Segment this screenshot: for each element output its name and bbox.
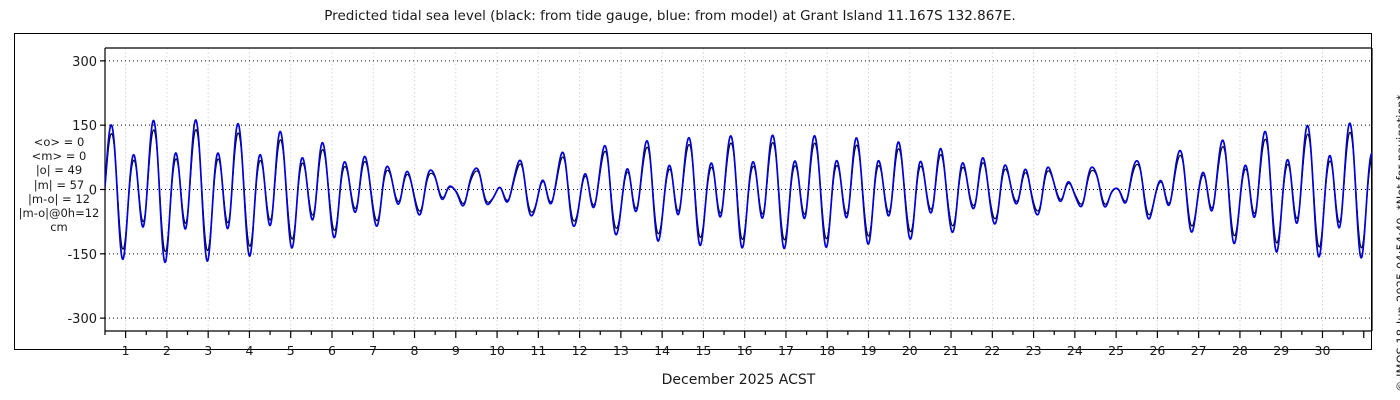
y-tick-label: -150 (67, 248, 97, 263)
x-tick-label: 29 (1273, 343, 1289, 358)
data-series-group (105, 120, 1372, 262)
x-tick-label: 6 (328, 343, 336, 358)
x-tick-label: 16 (737, 343, 753, 358)
x-tick-label: 10 (489, 343, 505, 358)
y-tick-label: 0 (89, 184, 97, 199)
plot-area: 3001500-150-300 123456789101112131415161… (0, 0, 1400, 400)
x-tick-label: 27 (1191, 343, 1207, 358)
x-tick-label: 12 (572, 343, 588, 358)
x-axis-ticks: 1234567891011121314151617181920212223242… (105, 331, 1364, 358)
x-tick-label: 20 (902, 343, 918, 358)
x-tick-label: 28 (1232, 343, 1248, 358)
y-axis-ticks: 3001500-150-300 (67, 55, 105, 327)
x-tick-label: 30 (1315, 343, 1331, 358)
x-tick-label: 9 (452, 343, 460, 358)
x-tick-label: 15 (695, 343, 711, 358)
x-tick-label: 8 (411, 343, 419, 358)
x-tick-label: 24 (1067, 343, 1083, 358)
x-tick-label: 11 (530, 343, 546, 358)
x-tick-label: 14 (654, 343, 670, 358)
y-tick-label: -300 (67, 312, 97, 327)
x-tick-label: 23 (1026, 343, 1042, 358)
x-tick-label: 26 (1149, 343, 1165, 358)
horizontal-gridlines (105, 61, 1372, 318)
x-tick-label: 25 (1108, 343, 1124, 358)
series-line-model (105, 120, 1372, 262)
x-tick-label: 22 (984, 343, 1000, 358)
x-tick-label: 1 (122, 343, 130, 358)
x-tick-label: 19 (861, 343, 877, 358)
x-tick-label: 4 (245, 343, 253, 358)
x-tick-label: 17 (778, 343, 794, 358)
credit-text: © IMOS 18-Jun-2025 04:54:40. *Not for na… (1394, 95, 1400, 392)
tidal-chart-figure: Predicted tidal sea level (black: from t… (0, 0, 1400, 400)
credit-note: © IMOS 18-Jun-2025 04:54:40. *Not for na… (1377, 0, 1399, 400)
x-tick-label: 3 (204, 343, 212, 358)
x-tick-label: 5 (287, 343, 295, 358)
x-axis-title: December 2025 ACST (105, 372, 1372, 388)
y-tick-label: 300 (72, 55, 97, 70)
x-tick-label: 2 (163, 343, 171, 358)
x-tick-label: 7 (369, 343, 377, 358)
x-tick-label: 21 (943, 343, 959, 358)
y-tick-label: 150 (72, 119, 97, 134)
x-tick-label: 13 (613, 343, 629, 358)
x-tick-label: 18 (819, 343, 835, 358)
